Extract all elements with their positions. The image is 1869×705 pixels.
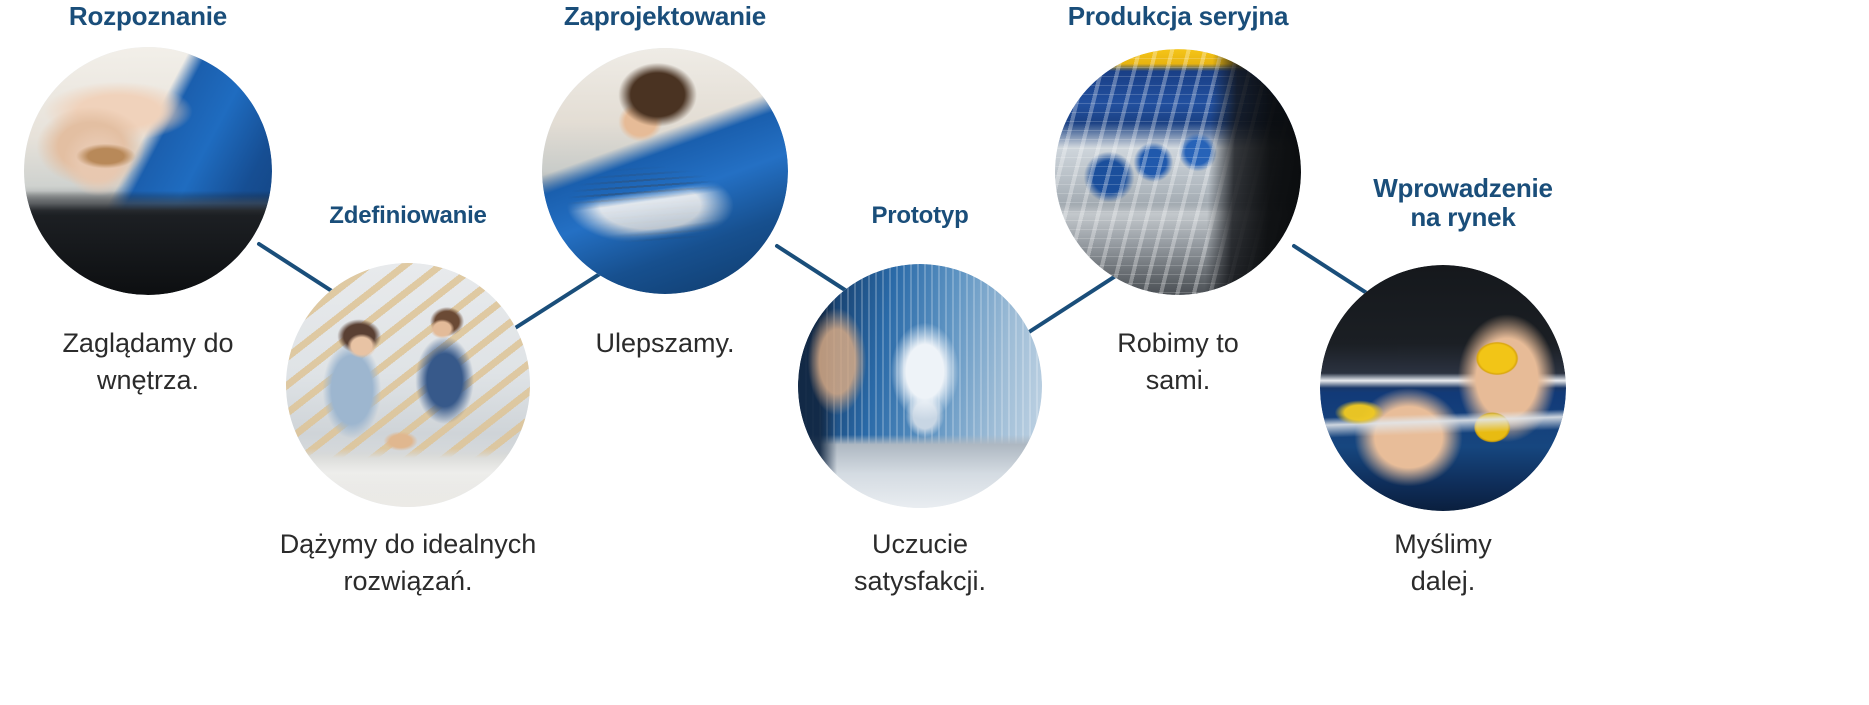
infographic-canvas: Rozpoznanie Zdefiniowanie Zaprojektowani… <box>0 0 1869 705</box>
step-caption-zdefiniowanie: Dążymy do idealnych rozwiązań. <box>254 526 562 601</box>
photo-engineer-laptop <box>542 48 788 294</box>
step-image-rozpoznanie <box>24 47 272 295</box>
photo-cad-prototype <box>798 264 1042 508</box>
step-title-produkcja-seryjna: Produkcja seryjna <box>1046 2 1310 31</box>
step-image-zaprojektowanie <box>542 48 788 294</box>
step-image-wprowadzenie-na-rynek <box>1320 265 1566 511</box>
step-image-produkcja-seryjna <box>1055 49 1301 295</box>
photo-market-launch <box>1320 265 1566 511</box>
photo-team-planning <box>286 263 530 507</box>
step-caption-wprowadzenie-na-rynek: Myślimy dalej. <box>1320 526 1566 601</box>
photo-series-production <box>1055 49 1301 295</box>
step-image-prototyp <box>798 264 1042 508</box>
step-title-prototyp: Prototyp <box>812 203 1028 230</box>
step-title-zdefiniowanie: Zdefiniowanie <box>300 203 516 230</box>
step-caption-rozpoznanie: Zaglądamy do wnętrza. <box>24 325 272 400</box>
step-caption-zaprojektowanie: Ulepszamy. <box>542 325 788 362</box>
photo-inspection <box>24 47 272 295</box>
step-caption-produkcja-seryjna: Robimy to sami. <box>1055 325 1301 400</box>
step-title-rozpoznanie: Rozpoznanie <box>24 2 272 31</box>
step-caption-prototyp: Uczucie satysfakcji. <box>798 526 1042 601</box>
step-image-zdefiniowanie <box>286 263 530 507</box>
step-title-wprowadzenie-na-rynek: Wprowadzenie na rynek <box>1333 174 1593 232</box>
step-title-zaprojektowanie: Zaprojektowanie <box>538 2 792 31</box>
